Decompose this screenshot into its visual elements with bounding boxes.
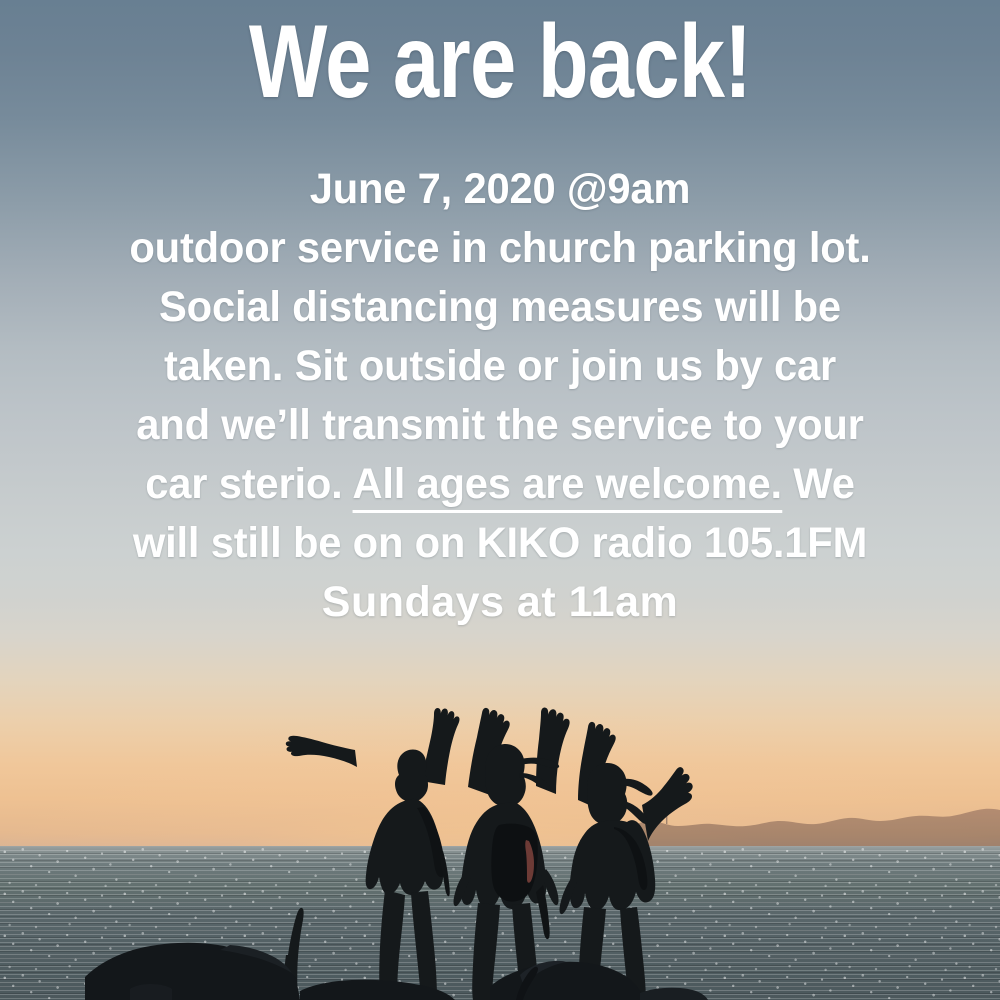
body-line-date: June 7, 2020 @9am [54,160,946,219]
announcement-body: June 7, 2020 @9am outdoor service in chu… [40,160,960,632]
foreground-rocks [0,905,1000,1000]
body-text-sterio: car sterio. [145,460,352,508]
body-line-seating: taken. Sit outside or join us by car [54,337,946,396]
body-line-schedule: Sundays at 11am [40,573,960,632]
page-title: We are back! [100,6,900,118]
body-line-allages: car sterio. All ages are welcome. We [54,455,946,514]
poster: We are back! June 7, 2020 @9am outdoor s… [0,0,1000,1000]
body-line-transmit: and we’ll transmit the service to your [54,396,946,455]
body-line-distancing: Social distancing measures will be [54,278,946,337]
body-line-radio: will still be on on KIKO radio 105.1FM [54,514,946,573]
body-text-we: We [782,460,855,508]
underlined-all-ages-welcome: All ages are welcome. [352,460,781,513]
body-line-location: outdoor service in church parking lot. [54,219,946,278]
